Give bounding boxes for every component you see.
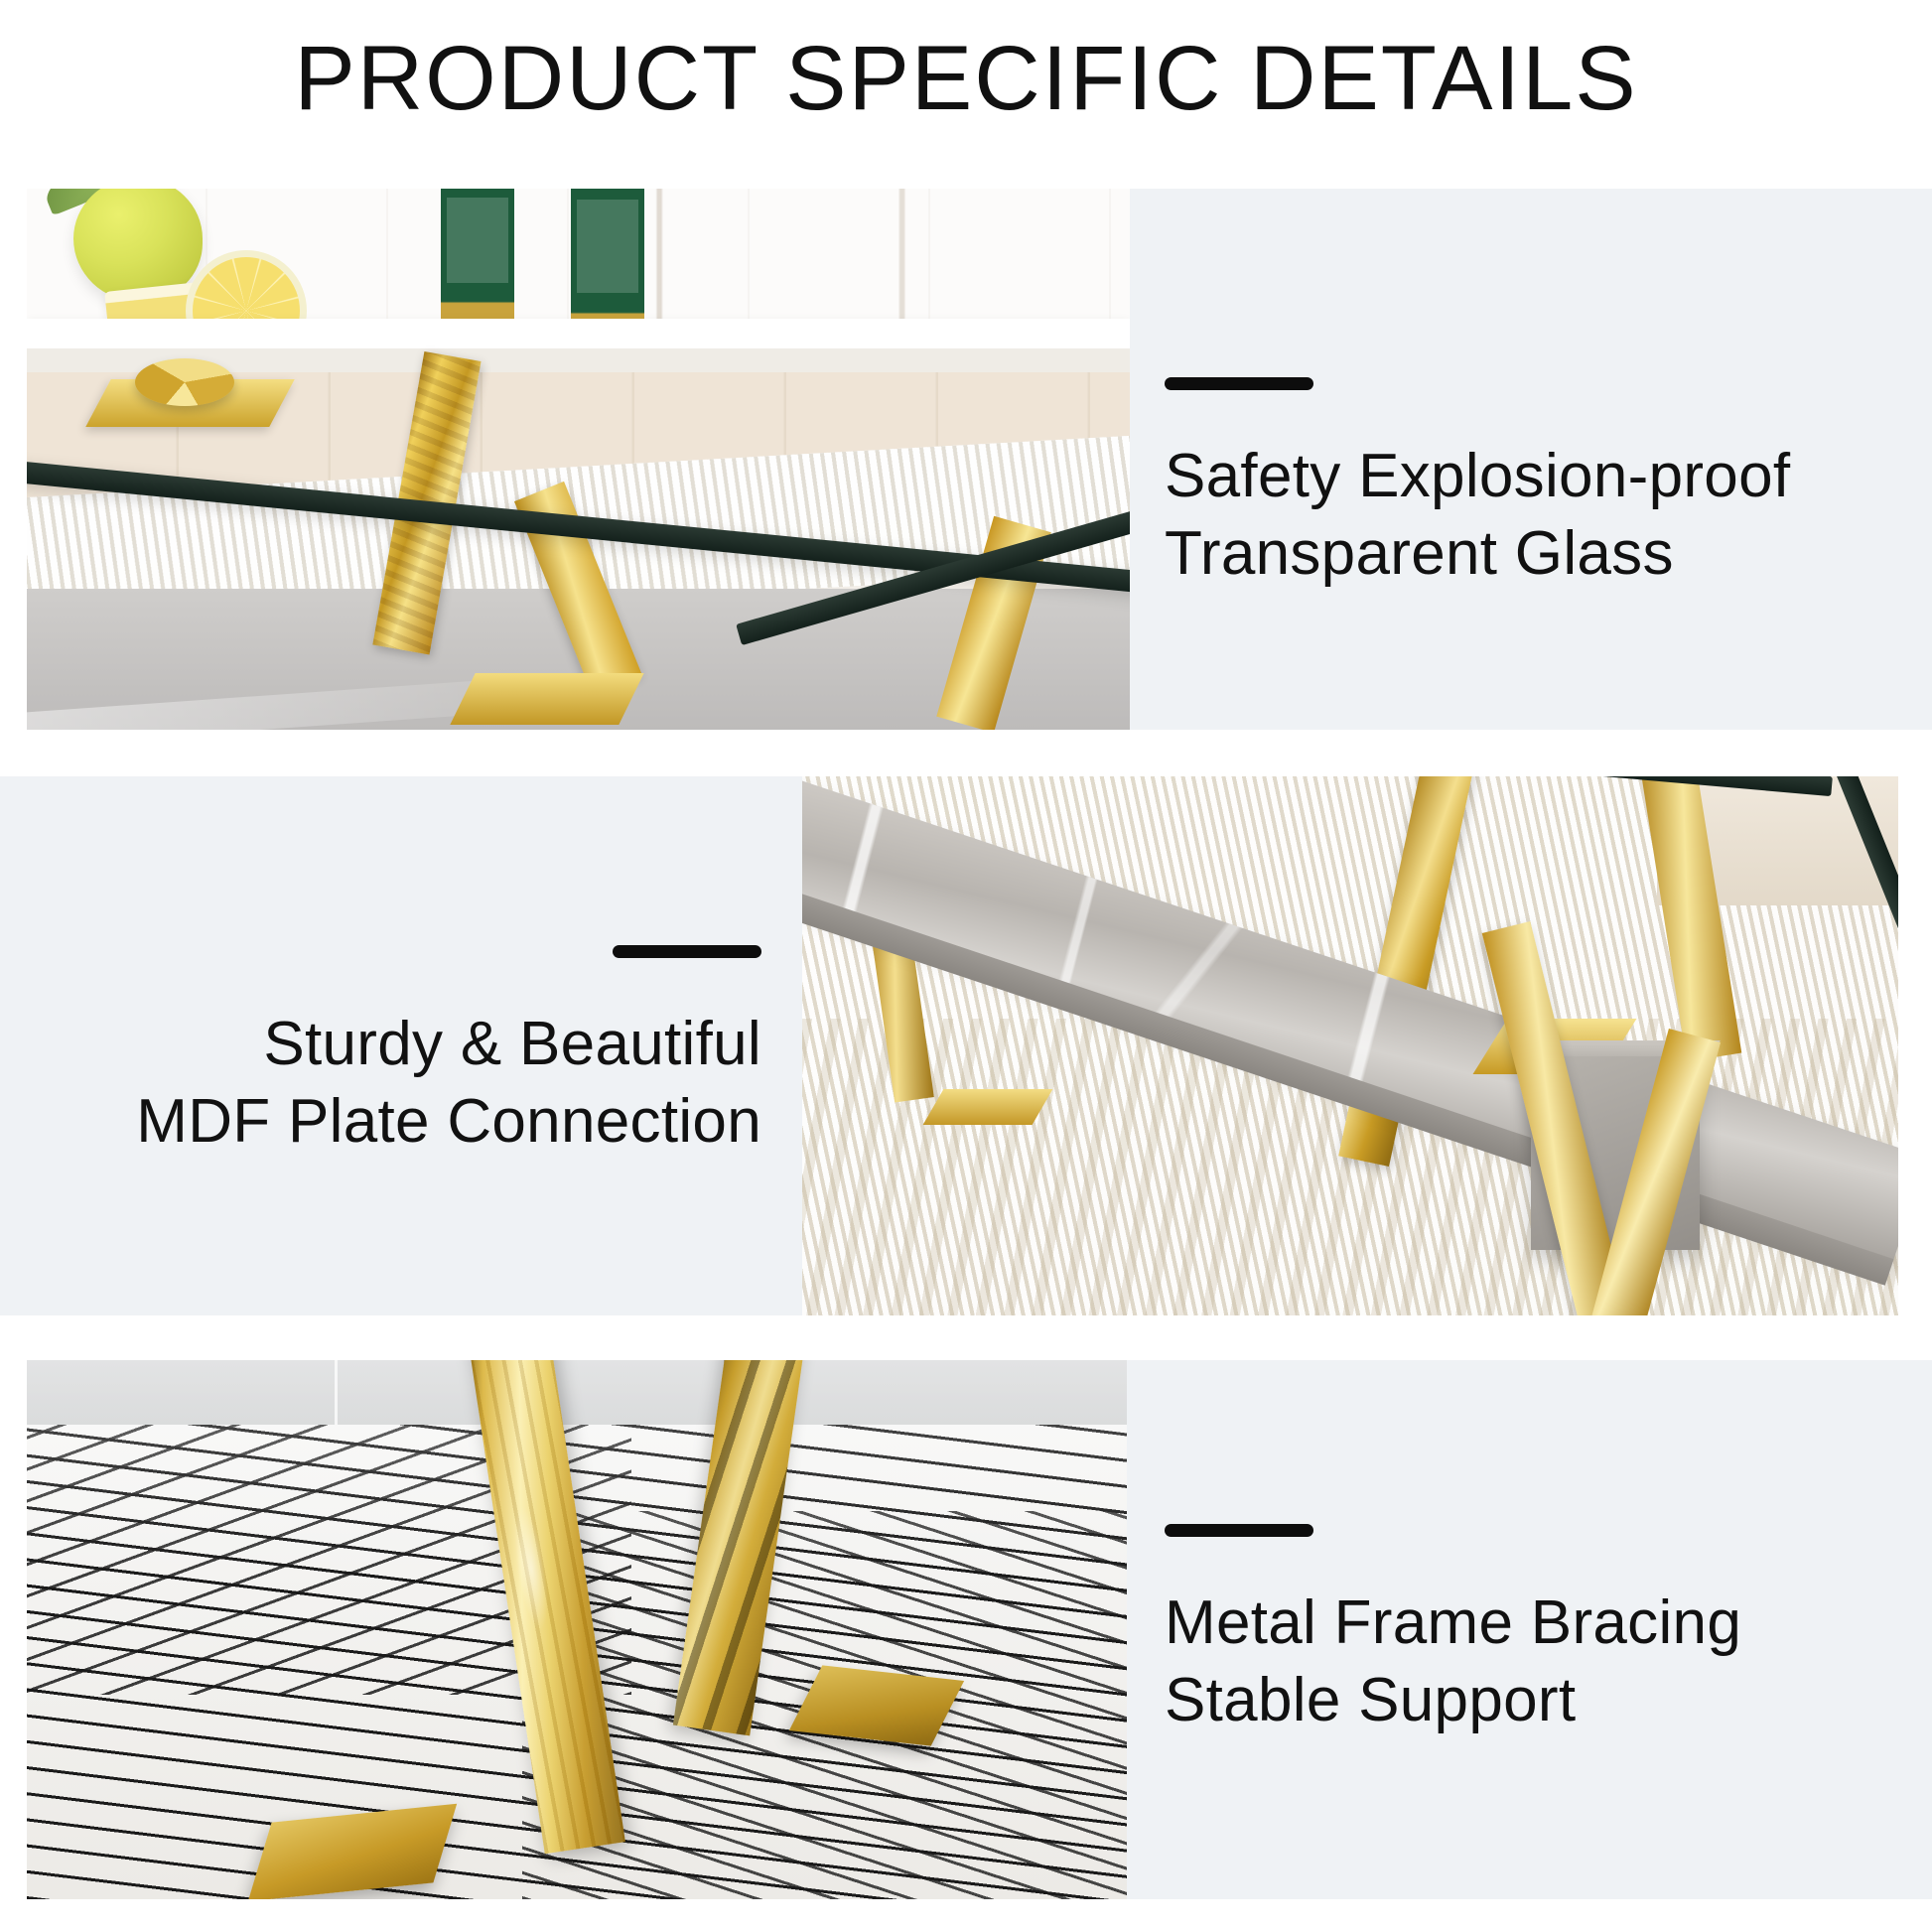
caption-line-1: Metal Frame Bracing <box>1165 1585 1899 1662</box>
accent-dash-icon <box>1165 1524 1313 1537</box>
feature-row-safety-glass: Safety Explosion-proof Transparent Glass <box>0 139 1932 774</box>
feature-row-metal-frame: Metal Frame Bracing Stable Support <box>0 1360 1932 1901</box>
caption-metal-frame: Metal Frame Bracing Stable Support <box>1165 1524 1899 1739</box>
page-title: PRODUCT SPECIFIC DETAILS <box>0 24 1932 133</box>
gold-foot <box>923 1089 1053 1125</box>
accent-dash-icon <box>1165 377 1313 390</box>
caption-mdf-plate: Sturdy & Beautiful MDF Plate Connection <box>30 945 761 1161</box>
feature-photo-metal-frame <box>27 1360 1127 1899</box>
caption-line-1: Safety Explosion-proof <box>1165 438 1899 515</box>
caption-line-2: MDF Plate Connection <box>30 1083 761 1161</box>
caption-line-2: Transparent Glass <box>1165 515 1899 593</box>
caption-line-1: Sturdy & Beautiful <box>30 1006 761 1083</box>
feature-photo-safety-glass <box>27 189 1130 730</box>
bottle-label <box>447 198 508 283</box>
gold-foot <box>450 673 643 725</box>
gold-cap-disc <box>135 358 234 406</box>
accent-dash-icon <box>613 945 761 958</box>
feature-row-mdf-plate: Sturdy & Beautiful MDF Plate Connection <box>0 776 1932 1317</box>
feature-photo-mdf-plate <box>802 776 1898 1315</box>
caption-safety-glass: Safety Explosion-proof Transparent Glass <box>1165 377 1899 593</box>
bottle-label <box>577 200 638 293</box>
product-details-page: PRODUCT SPECIFIC DETAILS <box>0 0 1932 1932</box>
caption-line-2: Stable Support <box>1165 1662 1899 1739</box>
